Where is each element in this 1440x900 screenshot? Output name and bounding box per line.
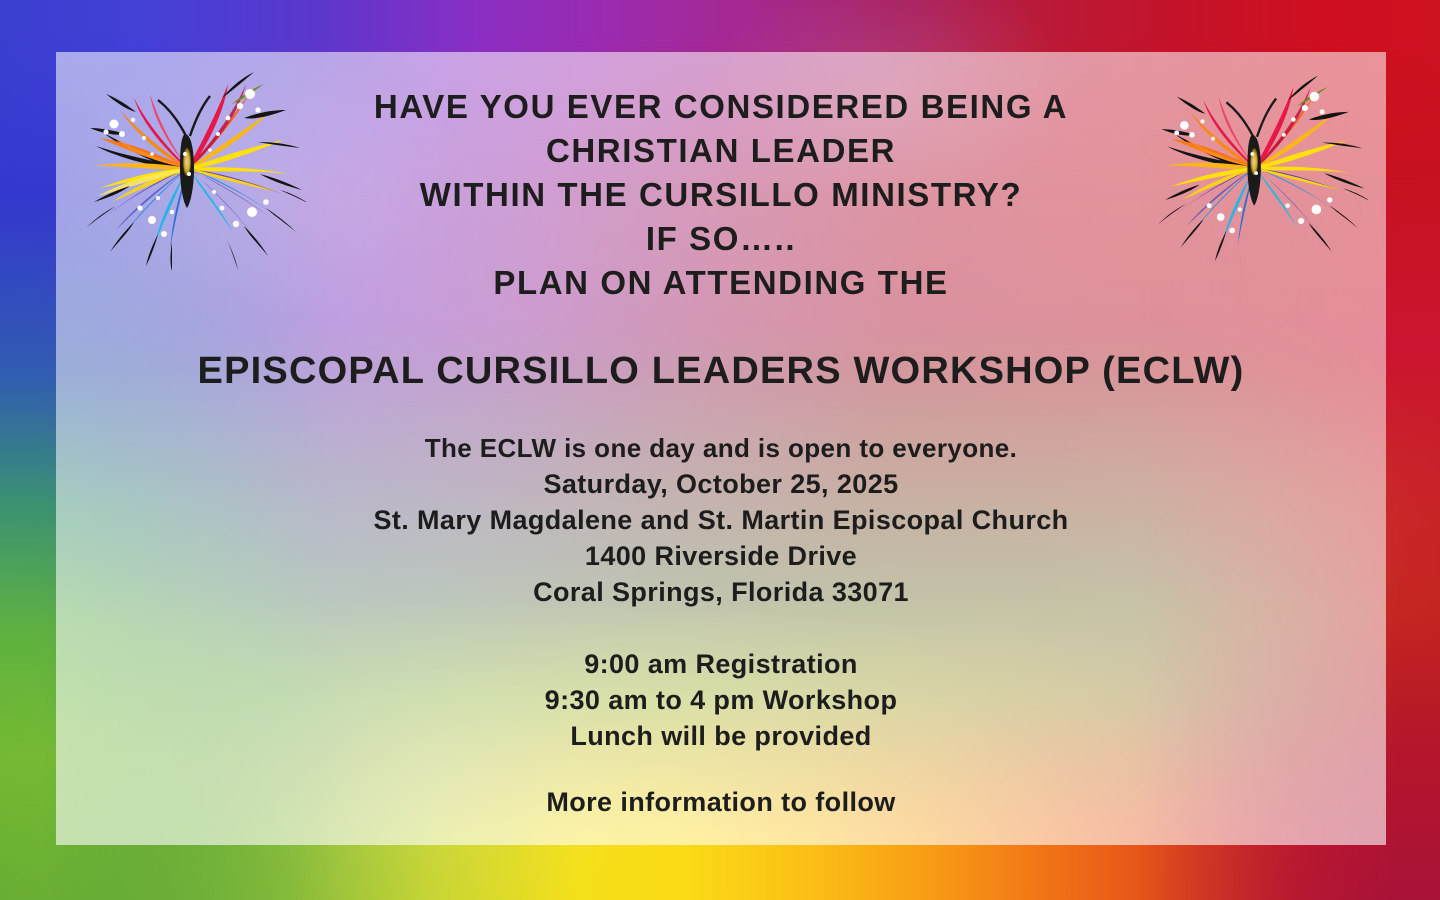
schedule-block: 9:00 am Registration 9:30 am to 4 pm Wor… [56, 646, 1386, 754]
details-line-city: Coral Springs, Florida 33071 [56, 574, 1386, 610]
schedule-line-registration: 9:00 am Registration [56, 646, 1386, 682]
butterfly-icon [1148, 62, 1368, 267]
details-line-date: Saturday, October 25, 2025 [56, 466, 1386, 502]
details-line-summary: The ECLW is one day and is open to every… [56, 430, 1386, 466]
main-title: EPISCOPAL CURSILLO LEADERS WORKSHOP (ECL… [56, 350, 1386, 393]
butterfly-icon [76, 60, 306, 270]
event-details-block: The ECLW is one day and is open to every… [56, 430, 1386, 610]
poster-canvas: HAVE YOU EVER CONSIDERED BEING A CHRISTI… [0, 0, 1440, 900]
schedule-line-workshop: 9:30 am to 4 pm Workshop [56, 682, 1386, 718]
details-line-venue: St. Mary Magdalene and St. Martin Episco… [56, 502, 1386, 538]
footnote-text: More information to follow [56, 787, 1386, 818]
content-panel: HAVE YOU EVER CONSIDERED BEING A CHRISTI… [56, 52, 1386, 845]
schedule-line-lunch: Lunch will be provided [56, 718, 1386, 754]
details-line-street: 1400 Riverside Drive [56, 538, 1386, 574]
